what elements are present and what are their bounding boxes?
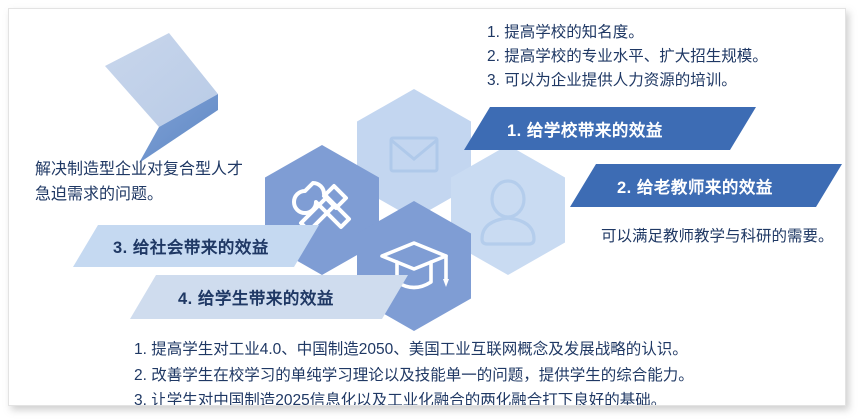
school-benefit-list: 1. 提高学校的知名度。 2. 提高学校的专业水平、扩大招生规模。 3. 可以为…	[487, 21, 768, 93]
school-benefit-item: 3. 可以为企业提供人力资源的培训。	[487, 69, 768, 93]
problem-statement-line: 急迫需求的问题。	[35, 182, 243, 207]
banner-teacher-benefit[interactable]: 2. 给老教师来的效益	[570, 164, 842, 207]
banner-society-benefit[interactable]: 3. 给社会带来的效益	[73, 225, 319, 267]
banner-label: 1. 给学校带来的效益	[507, 117, 663, 141]
student-benefit-list: 1. 提高学生对工业4.0、中国制造2050、美国工业互联网概念及发展战略的认识…	[134, 337, 694, 406]
student-benefit-item: 1. 提高学生对工业4.0、中国制造2050、美国工业互联网概念及发展战略的认识…	[134, 337, 694, 363]
problem-statement-line: 解决制造型企业对复合型人才	[35, 157, 243, 182]
banner-school-benefit[interactable]: 1. 给学校带来的效益	[464, 107, 756, 150]
problem-statement: 解决制造型企业对复合型人才 急迫需求的问题。	[35, 157, 243, 207]
banner-student-benefit[interactable]: 4. 给学生带来的效益	[130, 275, 408, 319]
student-benefit-item: 3. 让学生对中国制造2025信息化以及工业化融合的两化融合打下良好的基础。	[134, 388, 694, 406]
banner-label: 3. 给社会带来的效益	[113, 234, 269, 258]
banner-label: 2. 给老教师来的效益	[617, 174, 773, 198]
school-benefit-item: 2. 提高学校的专业水平、扩大招生规模。	[487, 45, 768, 69]
slide-frame: 1. 给学校带来的效益 2. 给老教师来的效益 3. 给社会带来的效益 4. 给…	[8, 8, 846, 406]
3d-folded-cube-shape	[97, 31, 222, 166]
banner-label: 4. 给学生带来的效益	[178, 285, 334, 309]
teacher-benefit-note: 可以满足教师教学与科研的需要。	[601, 225, 834, 249]
student-benefit-item: 2. 改善学生在校学习的单纯学习理论以及技能单一的问题，提供学生的综合能力。	[134, 363, 694, 389]
school-benefit-item: 1. 提高学校的知名度。	[487, 21, 768, 45]
slide-canvas: 1. 给学校带来的效益 2. 给老教师来的效益 3. 给社会带来的效益 4. 给…	[0, 0, 859, 419]
teacher-benefit-note-line: 可以满足教师教学与科研的需要。	[601, 225, 834, 249]
